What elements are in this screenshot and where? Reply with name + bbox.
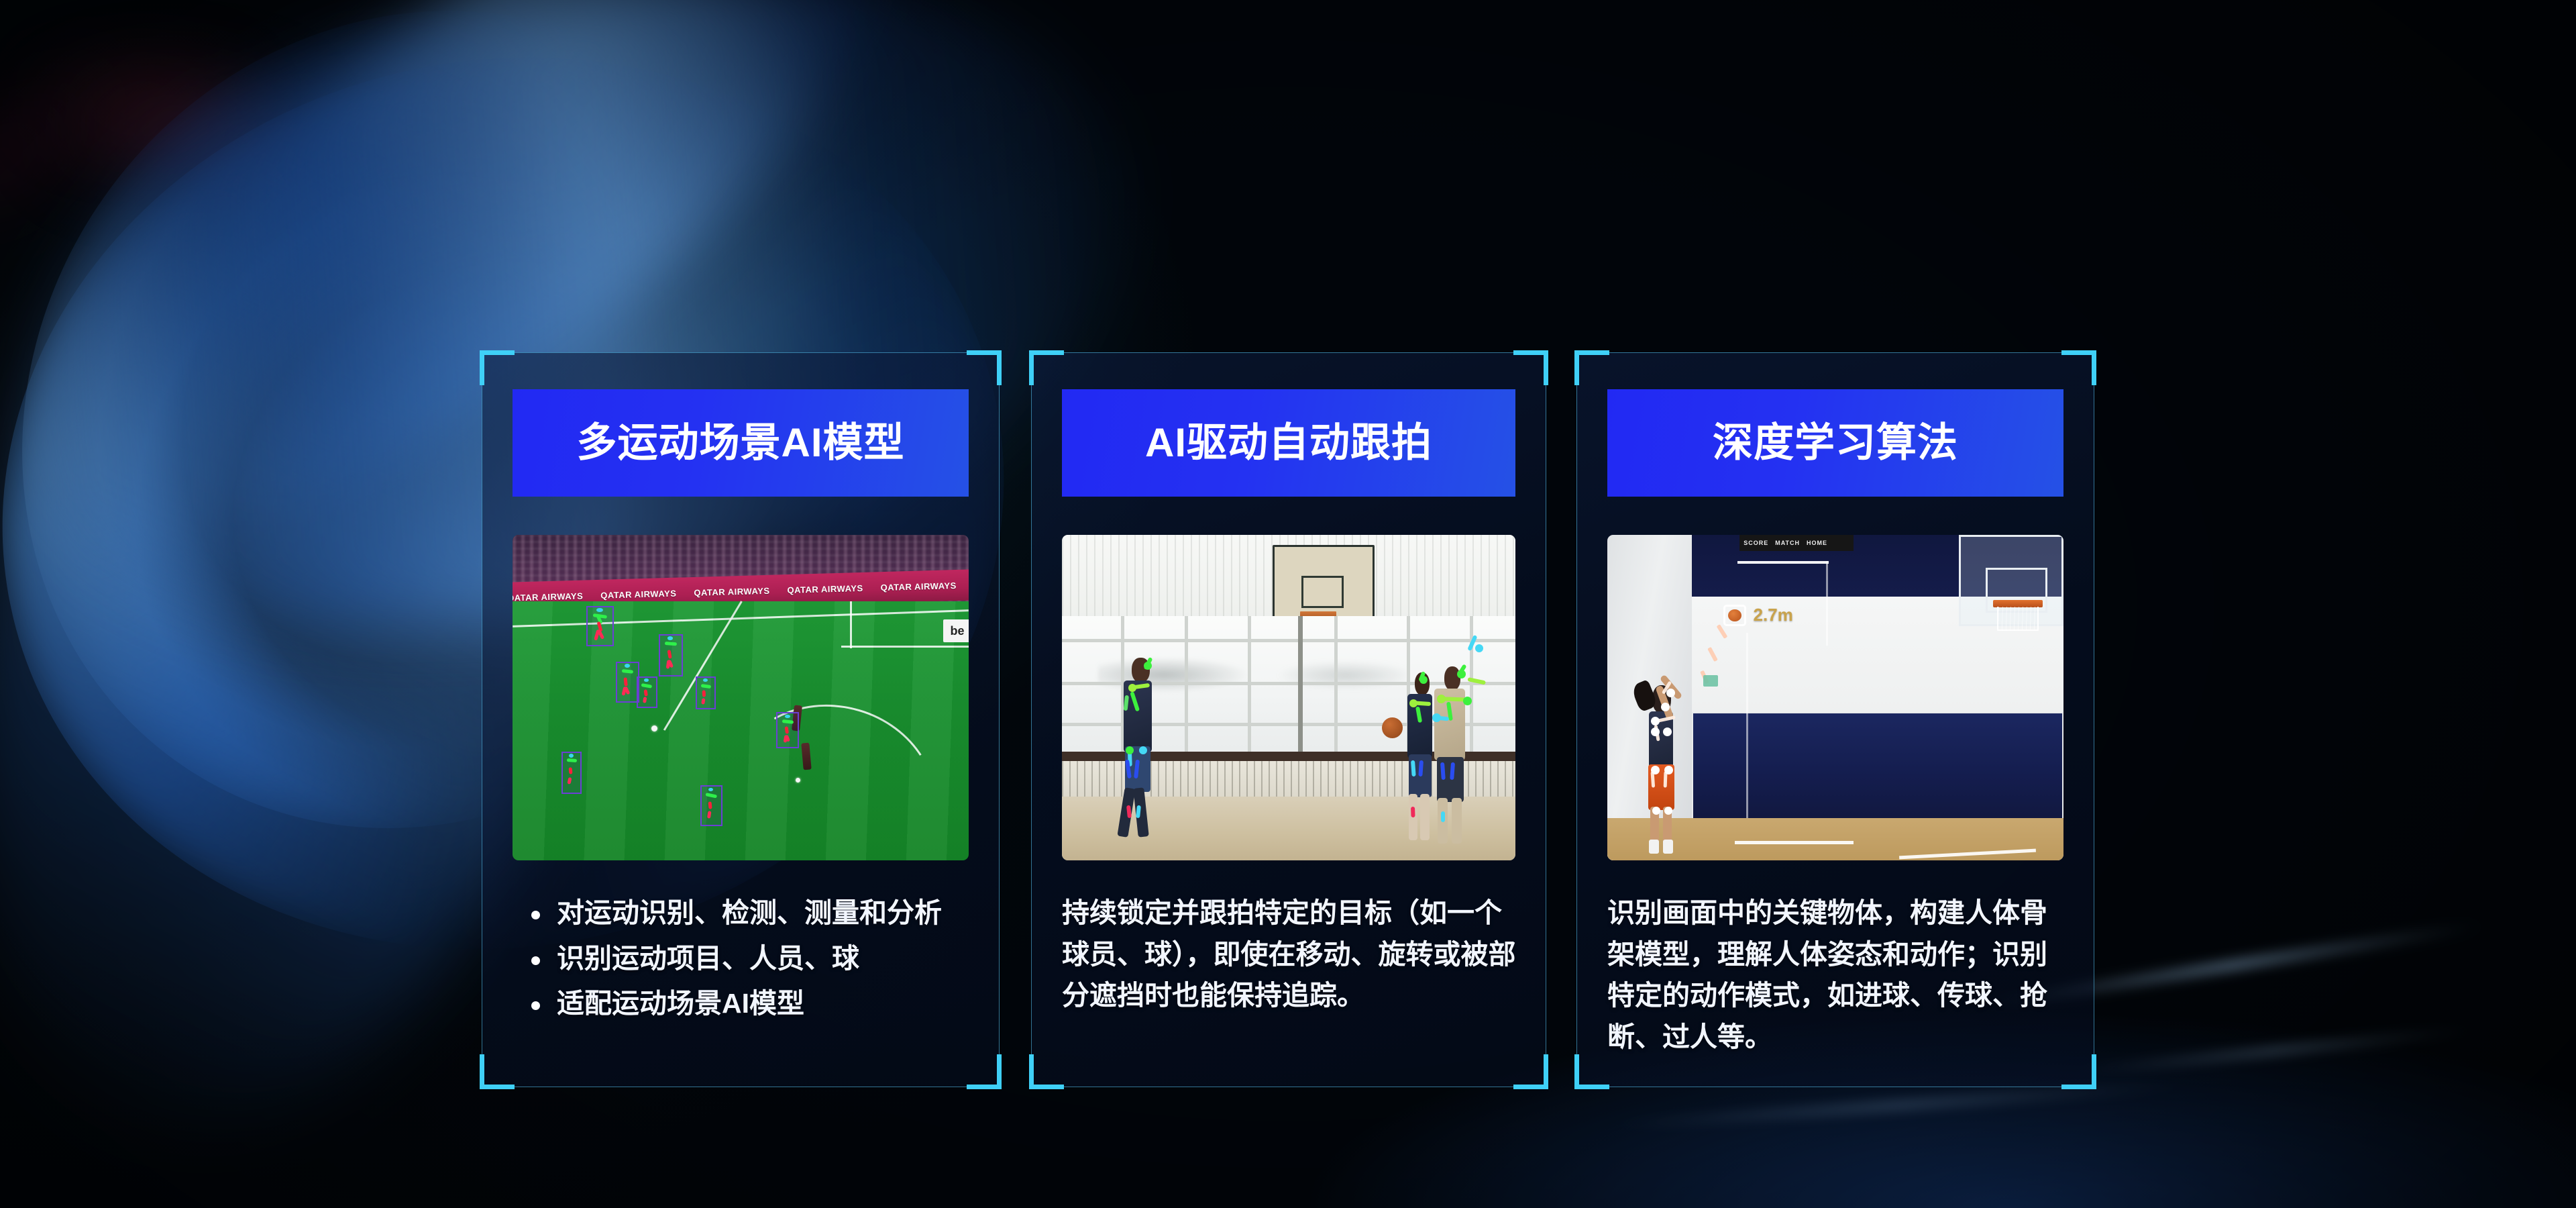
window-mullion-v3 — [1248, 616, 1251, 756]
pose-shoulders — [567, 758, 577, 762]
pose-torso — [623, 677, 627, 686]
detection-box — [696, 676, 716, 709]
player-head — [1444, 666, 1460, 691]
pose-head — [708, 788, 713, 792]
pose-leg-left — [707, 811, 711, 818]
pose-keypoint — [1475, 644, 1483, 652]
pose-torso — [568, 767, 572, 774]
corner-bracket-top-right — [1513, 350, 1548, 385]
player-leg — [1452, 798, 1462, 844]
pose-head — [569, 754, 574, 758]
pose-head — [596, 608, 603, 612]
pose-head — [625, 664, 630, 668]
basketball-backboard — [1273, 545, 1375, 618]
exit-sign — [1703, 675, 1718, 687]
detection-box — [616, 662, 639, 703]
pose-torso — [708, 801, 712, 809]
pose-torso — [702, 691, 706, 697]
measurement-guide-horizontal — [1737, 561, 1829, 564]
corner-bracket-bottom-left — [1574, 1054, 1609, 1089]
ball-bounding-box — [1723, 605, 1746, 626]
card-image-soccer-pitch-detection: QATAR AIRWAYS QATAR AIRWAYS QATAR AIRWAY… — [513, 535, 969, 860]
corner-bracket-bottom-left — [480, 1054, 515, 1089]
list-item: 适配运动场景AI模型 — [527, 983, 977, 1025]
pose-keypoint — [1437, 695, 1446, 703]
scoreboard-label: MATCH — [1775, 540, 1800, 546]
feature-bullet-list: 对运动识别、检测、测量和分析 识别运动项目、人员、球 适配运动场景AI模型 — [513, 893, 977, 1025]
pose-shin — [1441, 811, 1445, 822]
list-item: 对运动识别、检测、测量和分析 — [527, 893, 977, 934]
corner-bracket-bottom-right — [1513, 1054, 1548, 1089]
pose-shoulders — [782, 719, 793, 724]
feature-card-deep-learning-algorithm[interactable]: 深度学习算法 SCORE MATCH HOME — [1576, 352, 2094, 1087]
feature-description: 识别画面中的关键物体，构建人体骨架模型，理解人体姿态和动作；识别特定的动作模式，… — [1607, 893, 2072, 1058]
detection-box — [776, 712, 799, 748]
court-baseline — [1735, 841, 1854, 844]
window-mullion-v2 — [1185, 616, 1188, 756]
basketball — [1382, 717, 1403, 738]
detection-box — [637, 676, 657, 708]
window-tree-silhouette-2 — [1271, 660, 1407, 691]
basketball-net — [1997, 607, 2038, 631]
card-title: 多运动场景AI模型 — [577, 423, 905, 463]
pose-shoulders — [706, 793, 717, 798]
distance-label: 2.7m — [1754, 605, 1793, 625]
player-shoe — [1649, 840, 1659, 854]
corner-bracket-bottom-right — [967, 1054, 1002, 1089]
pose-leg-left — [568, 777, 572, 785]
pose-shoulders — [621, 669, 633, 674]
pose-shoulders — [641, 683, 652, 689]
pose-keypoint — [1432, 713, 1441, 722]
measurement-guide-vertical — [1826, 561, 1828, 646]
scoreboard-label: SCORE — [1743, 540, 1768, 546]
pose-head — [644, 678, 649, 682]
pose-shoulders — [700, 684, 710, 689]
pose-keypoint — [1663, 727, 1672, 736]
player-shooter — [1637, 678, 1692, 854]
pose-head — [703, 678, 708, 682]
pose-head — [785, 715, 790, 718]
corner-bracket-bottom-right — [2061, 1054, 2096, 1089]
pose-keypoint — [1144, 662, 1152, 670]
pose-torso — [784, 726, 789, 734]
pose-leg-left — [1411, 760, 1416, 776]
corner-bracket-bottom-left — [1029, 1054, 1064, 1089]
feature-card-multi-sport-ai-model[interactable]: 多运动场景AI模型 QATAR AIRWAYS QATAR AIRWAYS QA… — [482, 352, 1000, 1087]
pose-keypoint — [1139, 746, 1147, 754]
card-body: 持续锁定并跟拍特定的目标（如一个球员、球），即使在移动、旋转或被部分遮挡时也能保… — [1062, 893, 1523, 1017]
window-mullion-v4 — [1334, 616, 1338, 756]
card-body: 识别画面中的关键物体，构建人体骨架模型，理解人体姿态和动作；识别特定的动作模式，… — [1607, 893, 2072, 1058]
card-header-bar: 多运动场景AI模型 — [513, 389, 969, 497]
tracked-ball — [1728, 609, 1741, 621]
scoreboard: SCORE MATCH HOME — [1739, 535, 1854, 551]
pose-leg-left — [701, 698, 705, 705]
corner-bracket-top-left — [1574, 350, 1609, 385]
card-body: 对运动识别、检测、测量和分析 识别运动项目、人员、球 适配运动场景AI模型 — [513, 893, 977, 1029]
card-image-basketball-shot-measurement: SCORE MATCH HOME 2.7m — [1607, 535, 2063, 860]
pose-keypoint — [1664, 807, 1672, 815]
pose-torso — [643, 689, 647, 696]
detection-box — [586, 606, 614, 647]
detection-overlay-layer: be — [513, 535, 969, 860]
sponsor-patch: be — [943, 619, 969, 642]
card-header-bar: AI驱动自动跟拍 — [1062, 389, 1515, 497]
scoreboard-label: HOME — [1807, 540, 1827, 546]
detection-box — [561, 752, 582, 794]
pose-head — [667, 636, 674, 640]
player-far-right — [1461, 642, 1502, 740]
player-leg — [1133, 787, 1148, 837]
detection-box — [700, 785, 722, 825]
player-shoe — [1663, 840, 1673, 854]
pose-keypoint — [1409, 699, 1417, 707]
player-torso — [1124, 681, 1152, 752]
feature-description: 持续锁定并跟拍特定的目标（如一个球员、球），即使在移动、旋转或被部分遮挡时也能保… — [1062, 893, 1523, 1017]
pose-shoulders — [1467, 677, 1485, 685]
card-title: AI驱动自动跟拍 — [1145, 423, 1432, 463]
pose-keypoint — [1652, 807, 1660, 815]
feature-card-ai-auto-tracking[interactable]: AI驱动自动跟拍 — [1031, 352, 1546, 1087]
corner-bracket-top-left — [1029, 350, 1064, 385]
card-title: 深度学习算法 — [1713, 423, 1958, 463]
window-mullion-h1 — [1062, 639, 1515, 642]
pose-shoulders — [665, 642, 678, 646]
corner-bracket-top-left — [480, 350, 515, 385]
player-left — [1112, 652, 1171, 841]
corner-bracket-top-right — [967, 350, 1002, 385]
list-item: 识别运动项目、人员、球 — [527, 938, 977, 980]
corner-bracket-top-right — [2061, 350, 2096, 385]
card-image-indoor-gym-pose-tracking — [1062, 535, 1515, 860]
backboard-square — [1301, 576, 1344, 608]
pose-torso — [667, 650, 672, 659]
pose-shin — [1411, 807, 1415, 818]
detection-box — [659, 634, 684, 676]
card-header-bar: 深度学习算法 — [1607, 389, 2063, 497]
pose-leg-left — [643, 697, 647, 703]
